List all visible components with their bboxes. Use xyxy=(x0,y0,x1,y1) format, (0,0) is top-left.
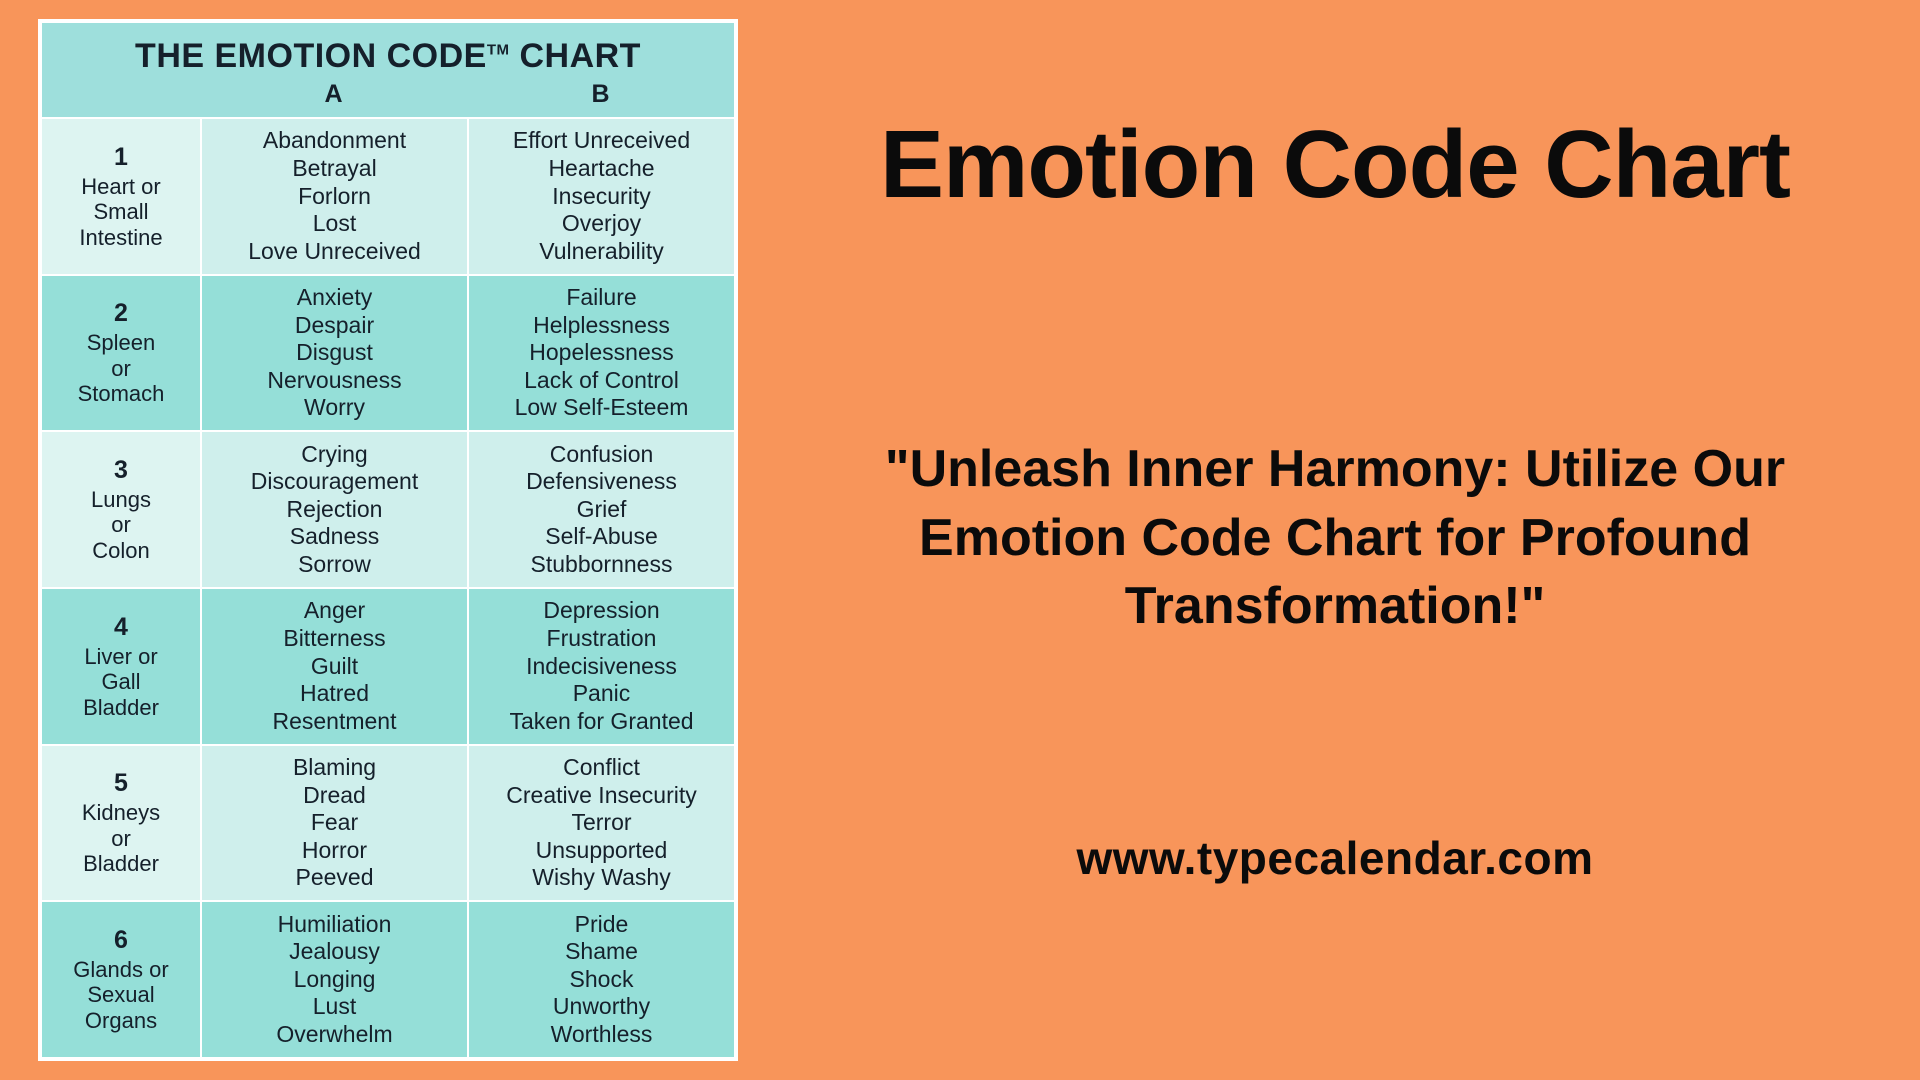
emotion-item: Resentment xyxy=(272,708,396,736)
emotion-item: Hatred xyxy=(300,680,369,708)
emotion-item: Frustration xyxy=(547,625,657,653)
emotion-item: Grief xyxy=(577,496,627,524)
emotion-item: Worthless xyxy=(551,1021,653,1049)
emotion-item: Disgust xyxy=(296,339,373,367)
organ-line: or xyxy=(111,826,131,852)
chart-title: THE EMOTION CODETM CHART xyxy=(42,37,734,76)
row-number: 1 xyxy=(114,143,128,172)
promo-panel: Emotion Code Chart "Unleash Inner Harmon… xyxy=(760,0,1910,1080)
organ-cell: 2SpleenorStomach xyxy=(42,276,200,431)
emotion-item: Confusion xyxy=(550,441,654,469)
chart-title-suffix: CHART xyxy=(519,37,640,75)
chart-inner: THE EMOTION CODETM CHART A B 1Heart orSm… xyxy=(42,23,734,1057)
emotion-item: Dread xyxy=(303,782,366,810)
organ-line: Organs xyxy=(85,1008,157,1034)
emotion-cell-a: AngerBitternessGuiltHatredResentment xyxy=(200,589,467,744)
organ-line: Glands or xyxy=(73,957,168,983)
emotion-item: Lack of Control xyxy=(524,367,679,395)
emotion-item: Love Unreceived xyxy=(248,238,421,266)
emotion-cell-b: Effort UnreceivedHeartacheInsecurityOver… xyxy=(467,119,734,274)
emotion-item: Failure xyxy=(566,284,636,312)
organ-cell: 3LungsorColon xyxy=(42,432,200,587)
organ-line: Bladder xyxy=(83,851,159,877)
column-header-spacer xyxy=(42,80,200,109)
row-number: 6 xyxy=(114,926,128,955)
row-number: 5 xyxy=(114,769,128,798)
emotion-item: Overwhelm xyxy=(276,1021,392,1049)
emotion-item: Self-Abuse xyxy=(545,523,658,551)
promo-quote: "Unleash Inner Harmony: Utilize Our Emot… xyxy=(835,435,1835,641)
chart-header: THE EMOTION CODETM CHART xyxy=(42,23,734,80)
emotion-item: Anxiety xyxy=(297,284,372,312)
emotion-item: Shock xyxy=(570,966,634,994)
emotion-cell-a: HumiliationJealousyLongingLustOverwhelm xyxy=(200,902,467,1057)
emotion-item: Depression xyxy=(543,597,659,625)
emotion-item: Lust xyxy=(313,993,356,1021)
table-row: 4Liver orGallBladderAngerBitternessGuilt… xyxy=(42,587,734,744)
table-row: 6Glands orSexualOrgansHumiliationJealous… xyxy=(42,900,734,1057)
organ-line: Gall xyxy=(101,669,140,695)
emotion-item: Vulnerability xyxy=(539,238,663,266)
emotion-item: Betrayal xyxy=(292,155,376,183)
organ-line: Colon xyxy=(92,538,149,564)
organ-line: Heart or xyxy=(81,174,160,200)
emotion-cell-b: ConfusionDefensivenessGriefSelf-AbuseStu… xyxy=(467,432,734,587)
poster-canvas: THE EMOTION CODETM CHART A B 1Heart orSm… xyxy=(0,0,1920,1080)
emotion-item: Humiliation xyxy=(278,911,392,939)
organ-line: Bladder xyxy=(83,695,159,721)
organ-line: Intestine xyxy=(79,225,162,251)
organ-line: Kidneys xyxy=(82,800,160,826)
organ-line: Spleen xyxy=(87,330,156,356)
emotion-item: Discouragement xyxy=(251,468,418,496)
emotion-cell-a: CryingDiscouragementRejectionSadnessSorr… xyxy=(200,432,467,587)
emotion-item: Unsupported xyxy=(536,837,668,865)
emotion-item: Jealousy xyxy=(289,938,380,966)
organ-cell: 5KidneysorBladder xyxy=(42,746,200,901)
emotion-item: Terror xyxy=(571,809,631,837)
column-header-row: A B xyxy=(42,80,734,117)
table-row: 3LungsorColonCryingDiscouragementRejecti… xyxy=(42,430,734,587)
emotion-item: Sadness xyxy=(290,523,380,551)
organ-line: or xyxy=(111,512,131,538)
emotion-item: Stubbornness xyxy=(531,551,673,579)
emotion-cell-a: BlamingDreadFearHorrorPeeved xyxy=(200,746,467,901)
emotion-item: Blaming xyxy=(293,754,376,782)
row-number: 2 xyxy=(114,299,128,328)
row-number: 3 xyxy=(114,456,128,485)
emotion-item: Worry xyxy=(304,394,365,422)
table-row: 2SpleenorStomachAnxietyDespairDisgustNer… xyxy=(42,274,734,431)
emotion-item: Hopelessness xyxy=(529,339,673,367)
organ-cell: 6Glands orSexualOrgans xyxy=(42,902,200,1057)
organ-line: Small xyxy=(93,199,148,225)
emotion-item: Anger xyxy=(304,597,365,625)
emotion-item: Panic xyxy=(573,680,631,708)
emotion-cell-b: FailureHelplessnessHopelessnessLack of C… xyxy=(467,276,734,431)
row-number: 4 xyxy=(114,613,128,642)
emotion-cell-b: PrideShameShockUnworthyWorthless xyxy=(467,902,734,1057)
emotion-item: Helplessness xyxy=(533,312,670,340)
emotion-item: Wishy Washy xyxy=(532,864,670,892)
emotion-item: Sorrow xyxy=(298,551,371,579)
emotion-item: Taken for Granted xyxy=(509,708,693,736)
emotion-item: Despair xyxy=(295,312,374,340)
emotion-item: Indecisiveness xyxy=(526,653,677,681)
emotion-item: Lost xyxy=(313,210,356,238)
column-header-a: A xyxy=(200,80,467,109)
emotion-item: Unworthy xyxy=(553,993,650,1021)
emotion-cell-b: DepressionFrustrationIndecisivenessPanic… xyxy=(467,589,734,744)
emotion-item: Effort Unreceived xyxy=(513,127,690,155)
emotion-item: Insecurity xyxy=(552,183,650,211)
emotion-item: Longing xyxy=(294,966,376,994)
emotion-cell-a: AnxietyDespairDisgustNervousnessWorry xyxy=(200,276,467,431)
organ-line: or xyxy=(111,356,131,382)
emotion-item: Rejection xyxy=(287,496,383,524)
emotion-item: Low Self-Esteem xyxy=(515,394,689,422)
organ-line: Lungs xyxy=(91,487,151,513)
emotion-item: Overjoy xyxy=(562,210,641,238)
organ-cell: 1Heart orSmallIntestine xyxy=(42,119,200,274)
emotion-item: Horror xyxy=(302,837,367,865)
emotion-item: Pride xyxy=(575,911,629,939)
emotion-item: Shame xyxy=(565,938,638,966)
organ-cell: 4Liver orGallBladder xyxy=(42,589,200,744)
emotion-code-chart-card: THE EMOTION CODETM CHART A B 1Heart orSm… xyxy=(38,19,738,1061)
emotion-item: Heartache xyxy=(548,155,654,183)
emotion-item: Abandonment xyxy=(263,127,406,155)
emotion-item: Fear xyxy=(311,809,358,837)
column-header-b: B xyxy=(467,80,734,109)
trademark-mark: TM xyxy=(487,42,510,59)
emotion-item: Nervousness xyxy=(267,367,401,395)
chart-title-main: THE EMOTION CODE xyxy=(135,37,487,75)
emotion-item: Creative Insecurity xyxy=(506,782,696,810)
table-row: 5KidneysorBladderBlamingDreadFearHorrorP… xyxy=(42,744,734,901)
promo-headline: Emotion Code Chart xyxy=(880,110,1790,220)
table-row: 1Heart orSmallIntestineAbandonmentBetray… xyxy=(42,117,734,274)
chart-grid: 1Heart orSmallIntestineAbandonmentBetray… xyxy=(42,117,734,1057)
emotion-item: Defensiveness xyxy=(526,468,677,496)
emotion-item: Conflict xyxy=(563,754,640,782)
emotion-item: Forlorn xyxy=(298,183,371,211)
promo-website[interactable]: www.typecalendar.com xyxy=(1076,831,1593,885)
emotion-cell-a: AbandonmentBetrayalForlornLostLove Unrec… xyxy=(200,119,467,274)
emotion-item: Guilt xyxy=(311,653,358,681)
emotion-item: Peeved xyxy=(295,864,373,892)
emotion-item: Bitterness xyxy=(283,625,385,653)
organ-line: Liver or xyxy=(84,644,157,670)
emotion-item: Crying xyxy=(301,441,367,469)
organ-line: Sexual xyxy=(87,982,154,1008)
emotion-cell-b: ConflictCreative InsecurityTerrorUnsuppo… xyxy=(467,746,734,901)
organ-line: Stomach xyxy=(78,381,165,407)
